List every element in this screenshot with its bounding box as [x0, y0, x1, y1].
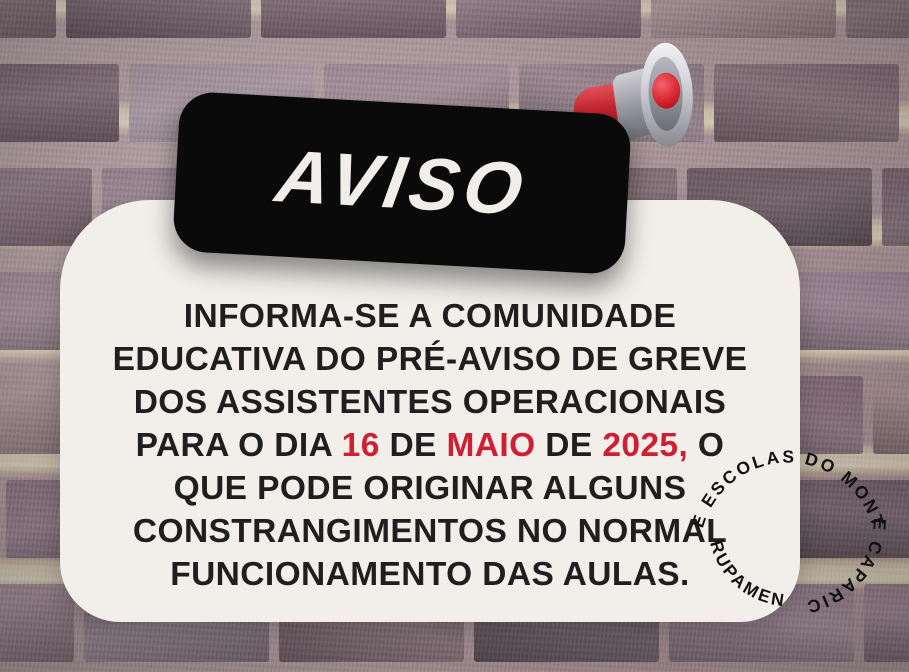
highlighted-date-text: 2025,: [602, 427, 688, 464]
body-text-segment: PARA O DIA: [136, 427, 342, 464]
body-text-segment: QUE PODE ORIGINAR ALGUNS: [174, 470, 687, 507]
body-text-segment: EDUCATIVA DO PRÉ-AVISO DE GREVE: [113, 341, 748, 378]
stamp-text-top: DE ESCOLAS DO MONTE: [680, 398, 889, 531]
body-text-segment: DE: [380, 427, 447, 464]
poster-canvas: AVISO INFORMA-SE A COMUNIDADEEDUCATIVA D…: [0, 0, 909, 672]
aviso-banner: AVISO: [172, 91, 632, 275]
body-text-segment: DOS ASSISTENTES OPERACIONAIS: [134, 384, 727, 421]
body-text-segment: CONSTRANGIMENTOS NO NORMAL: [133, 513, 727, 550]
highlighted-date-text: 16: [342, 427, 380, 464]
aviso-banner-label: AVISO: [271, 140, 532, 227]
body-text-segment: FUNCIONAMENTO DAS AULAS.: [170, 556, 690, 593]
body-text-segment: DE: [536, 427, 603, 464]
body-text-segment: INFORMA-SE A COMUNIDADE: [184, 298, 676, 335]
school-stamp-logo: DE ESCOLAS DO MONTE AGRUPAMENTO DE CAPAR…: [688, 414, 888, 614]
highlighted-date-text: MAIO: [447, 427, 536, 464]
notice-body-line: INFORMA-SE A COMUNIDADE: [60, 295, 800, 338]
notice-body-line: EDUCATIVA DO PRÉ-AVISO DE GREVE: [60, 338, 800, 381]
